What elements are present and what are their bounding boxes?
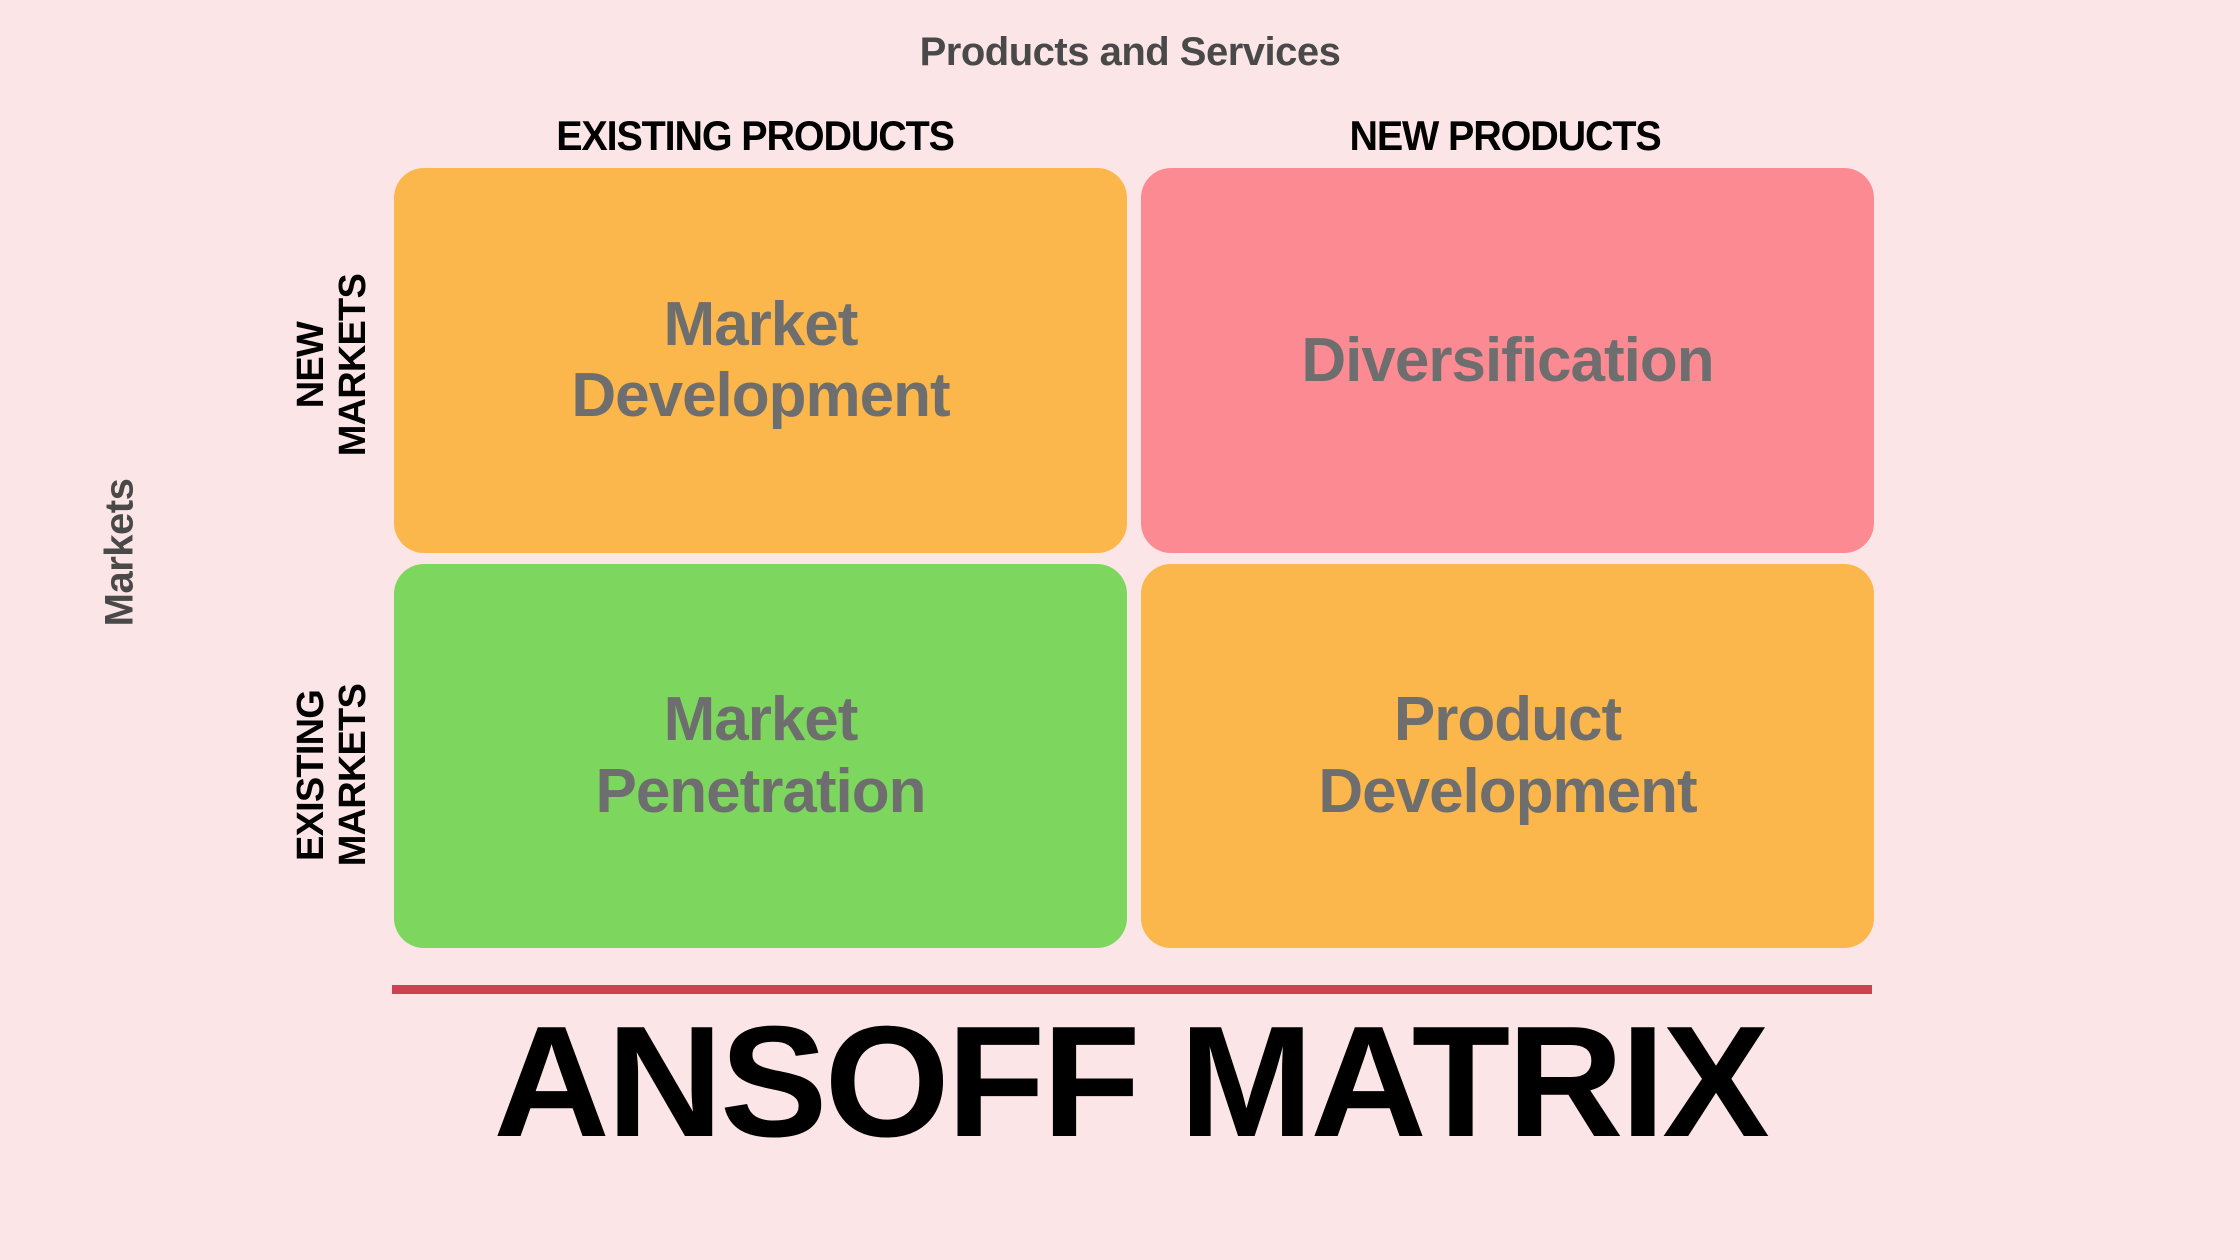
row-header-new-markets-line1: NEW <box>292 322 330 408</box>
row-header-new-markets: NEW MARKETS <box>272 165 392 565</box>
quadrant-market-penetration-line1: Market <box>595 684 925 755</box>
quadrant-market-development-line2: Development <box>571 360 949 431</box>
quadrant-product-development-label: Product Development <box>1304 684 1710 827</box>
quadrant-diversification-label: Diversification <box>1287 325 1727 396</box>
quadrant-product-development[interactable]: Product Development <box>1141 564 1874 949</box>
quadrant-market-penetration-line2: Penetration <box>595 756 925 827</box>
quadrant-product-development-line1: Product <box>1318 684 1696 755</box>
quadrant-market-development-line1: Market <box>571 289 949 360</box>
row-header-existing-markets-line2: MARKETS <box>334 684 372 866</box>
footer-divider <box>392 985 1872 994</box>
row-header-existing-markets-line1: EXISTING <box>292 690 330 861</box>
quadrant-diversification-line1: Diversification <box>1301 325 1713 396</box>
quadrant-market-development-label: Market Development <box>557 289 963 432</box>
quadrant-market-development[interactable]: Market Development <box>394 168 1127 553</box>
column-header-existing-products: EXISTING PRODUCTS <box>412 112 1098 160</box>
quadrant-market-penetration[interactable]: Market Penetration <box>394 564 1127 949</box>
quadrant-diversification[interactable]: Diversification <box>1141 168 1874 553</box>
row-header-existing-markets: EXISTING MARKETS <box>272 575 392 975</box>
quadrant-market-penetration-label: Market Penetration <box>581 684 939 827</box>
ansoff-matrix-grid: Market Development Diversification Marke… <box>394 168 1874 948</box>
quadrant-product-development-line2: Development <box>1318 756 1696 827</box>
left-axis-title: Markets <box>98 393 143 713</box>
page-title: ANSOFF MATRIX <box>314 1000 1946 1166</box>
column-header-new-products: NEW PRODUCTS <box>1162 112 1848 160</box>
row-header-new-markets-line2: MARKETS <box>334 274 372 456</box>
top-axis-title: Products and Services <box>390 30 1870 75</box>
